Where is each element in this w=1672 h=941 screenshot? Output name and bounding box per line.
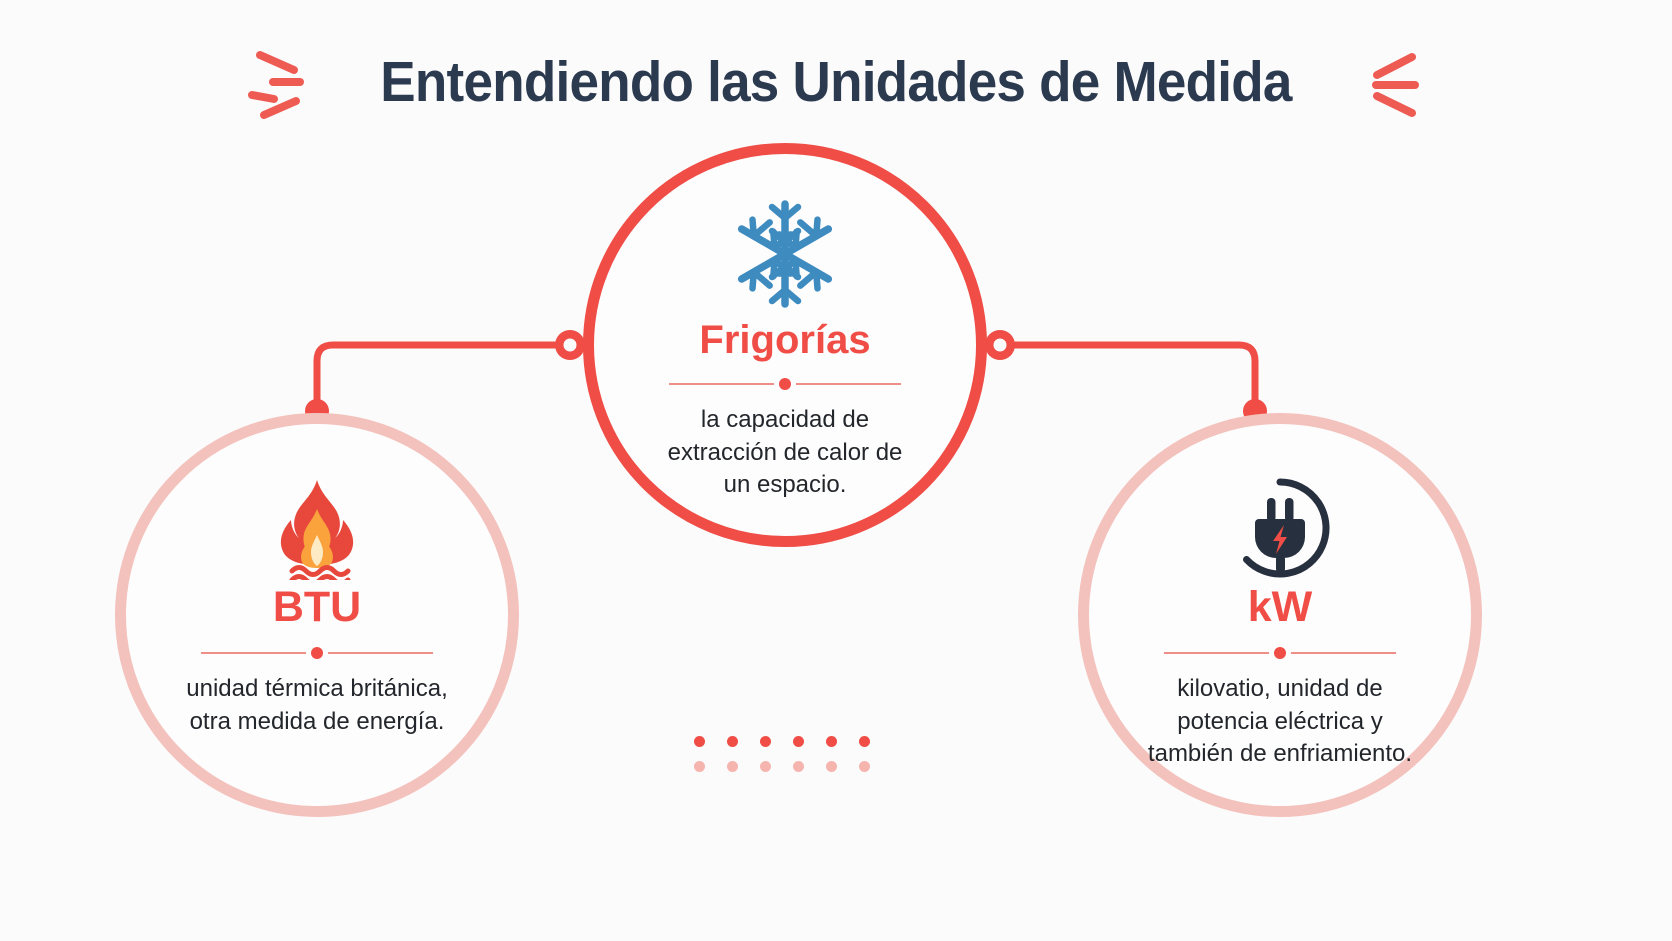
node-kw-title: kW	[1248, 586, 1313, 629]
node-btu[interactable]: BTU unidad térmica británica, otra medid…	[115, 413, 519, 817]
dot	[793, 736, 804, 747]
connector-left-ring-hole	[564, 339, 577, 352]
flame-heat-icon	[268, 476, 366, 580]
infographic-canvas: Entendiendo las Unidades de Medida	[0, 0, 1672, 941]
node-frigorias-description: la capacidad de extracción de calor de u…	[652, 404, 918, 502]
node-kw-description: kilovatio, unidad de potencia eléctrica …	[1146, 673, 1414, 771]
dot-row-faint	[694, 761, 870, 772]
decorative-dot-grid	[694, 736, 870, 772]
dot	[826, 761, 837, 772]
node-kw-divider	[1164, 646, 1396, 660]
node-frigorias[interactable]: Frigorías la capacidad de extracción de …	[583, 143, 987, 547]
node-btu-title: BTU	[273, 586, 361, 629]
dot-row-strong	[694, 736, 870, 747]
connector-left-ring-outer	[555, 330, 585, 360]
node-kw[interactable]: kW kilovatio, unidad de potencia eléctri…	[1078, 413, 1482, 817]
burst-lines-right-icon	[1360, 41, 1430, 123]
plug-prong-left	[1267, 498, 1276, 522]
connector-right-path	[1004, 345, 1255, 409]
connector-right-ring-hole	[994, 339, 1007, 352]
dot	[694, 761, 705, 772]
connector-right-ring-outer	[985, 330, 1015, 360]
plug-cable	[1276, 555, 1285, 573]
plug-prong-right	[1285, 498, 1294, 522]
node-btu-description: unidad térmica británica, otra medida de…	[183, 673, 451, 738]
dot	[760, 736, 771, 747]
dot	[859, 736, 870, 747]
divider-knob	[311, 647, 323, 659]
title-row: Entendiendo las Unidades de Medida	[0, 34, 1672, 130]
node-frigorias-title: Frigorías	[699, 320, 870, 360]
dot	[727, 761, 738, 772]
dot	[694, 736, 705, 747]
node-btu-divider	[201, 646, 433, 660]
dot	[760, 761, 771, 772]
divider-knob	[1274, 647, 1286, 659]
snowflake-icon	[729, 198, 841, 310]
dot	[727, 736, 738, 747]
node-frigorias-divider	[669, 377, 901, 391]
dot	[793, 761, 804, 772]
burst-lines-left-icon	[242, 41, 312, 123]
dot	[859, 761, 870, 772]
divider-knob	[779, 378, 791, 390]
page-title: Entendiendo las Unidades de Medida	[380, 49, 1291, 115]
power-plug-icon	[1227, 476, 1333, 580]
dot	[826, 736, 837, 747]
connector-left-path	[317, 345, 572, 409]
